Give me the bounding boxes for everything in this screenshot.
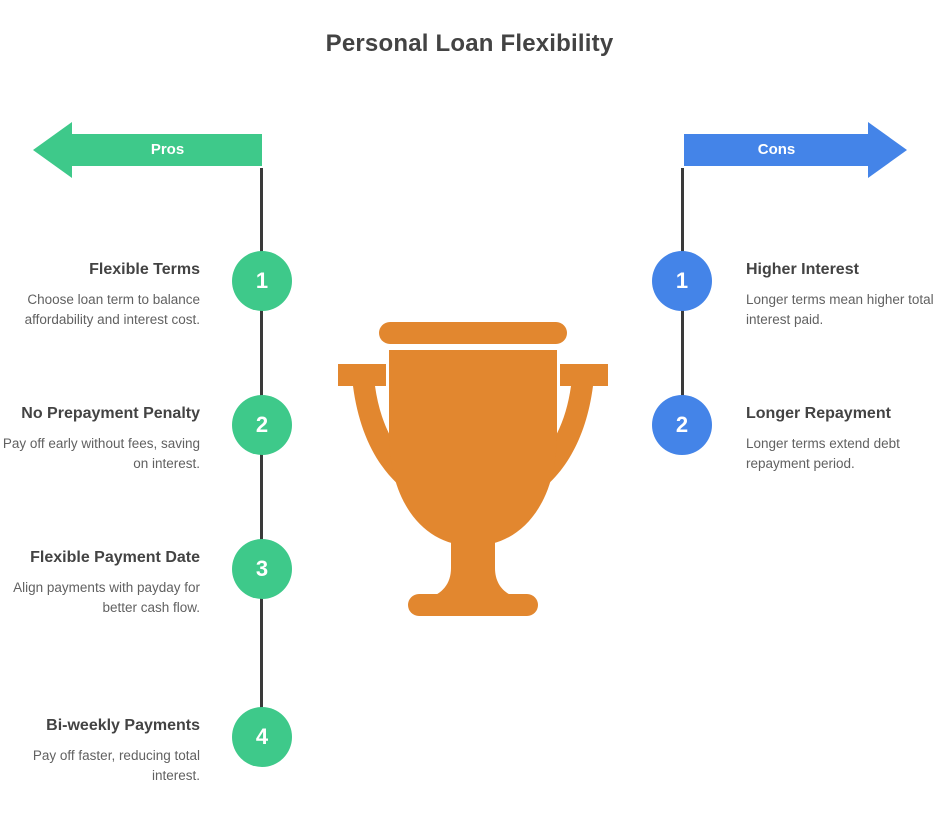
pros-item-1-description: Choose loan term to balance affordabilit… (0, 290, 200, 329)
pros-number-badge-2: 2 (232, 395, 292, 455)
pros-number-badge-4: 4 (232, 707, 292, 767)
pros-item-2-description: Pay off early without fees, saving on in… (0, 434, 200, 473)
pros-item-4-heading: Bi-weekly Payments (0, 714, 200, 737)
cons-banner-label: Cons (684, 120, 869, 180)
cons-item-1-heading: Higher Interest (746, 258, 939, 281)
page-title: Personal Loan Flexibility (0, 30, 939, 58)
cons-item-1: Higher Interest Longer terms mean higher… (746, 258, 939, 329)
pros-banner: Pros (33, 120, 262, 180)
pros-number-badge-1: 1 (232, 251, 292, 311)
pros-item-2: No Prepayment Penalty Pay off early with… (0, 402, 200, 473)
cons-item-2-heading: Longer Repayment (746, 402, 939, 425)
pros-item-4-description: Pay off faster, reducing total interest. (0, 746, 200, 785)
pros-item-3-heading: Flexible Payment Date (0, 546, 200, 569)
pros-banner-label: Pros (73, 120, 262, 180)
pros-item-1: Flexible Terms Choose loan term to balan… (0, 258, 200, 329)
cons-item-2-description: Longer terms extend debt repayment perio… (746, 434, 939, 473)
pros-item-2-heading: No Prepayment Penalty (0, 402, 200, 425)
trophy-icon (338, 322, 608, 617)
pros-item-3: Flexible Payment Date Align payments wit… (0, 546, 200, 617)
pros-item-3-description: Align payments with payday for better ca… (0, 578, 200, 617)
cons-number-badge-2: 2 (652, 395, 712, 455)
cons-banner: Cons (684, 120, 907, 180)
cons-item-2: Longer Repayment Longer terms extend deb… (746, 402, 939, 473)
cons-number-badge-1: 1 (652, 251, 712, 311)
trophy-graphic (338, 322, 608, 617)
cons-item-1-description: Longer terms mean higher total interest … (746, 290, 939, 329)
pros-item-1-heading: Flexible Terms (0, 258, 200, 281)
pros-number-badge-3: 3 (232, 539, 292, 599)
pros-item-4: Bi-weekly Payments Pay off faster, reduc… (0, 714, 200, 785)
